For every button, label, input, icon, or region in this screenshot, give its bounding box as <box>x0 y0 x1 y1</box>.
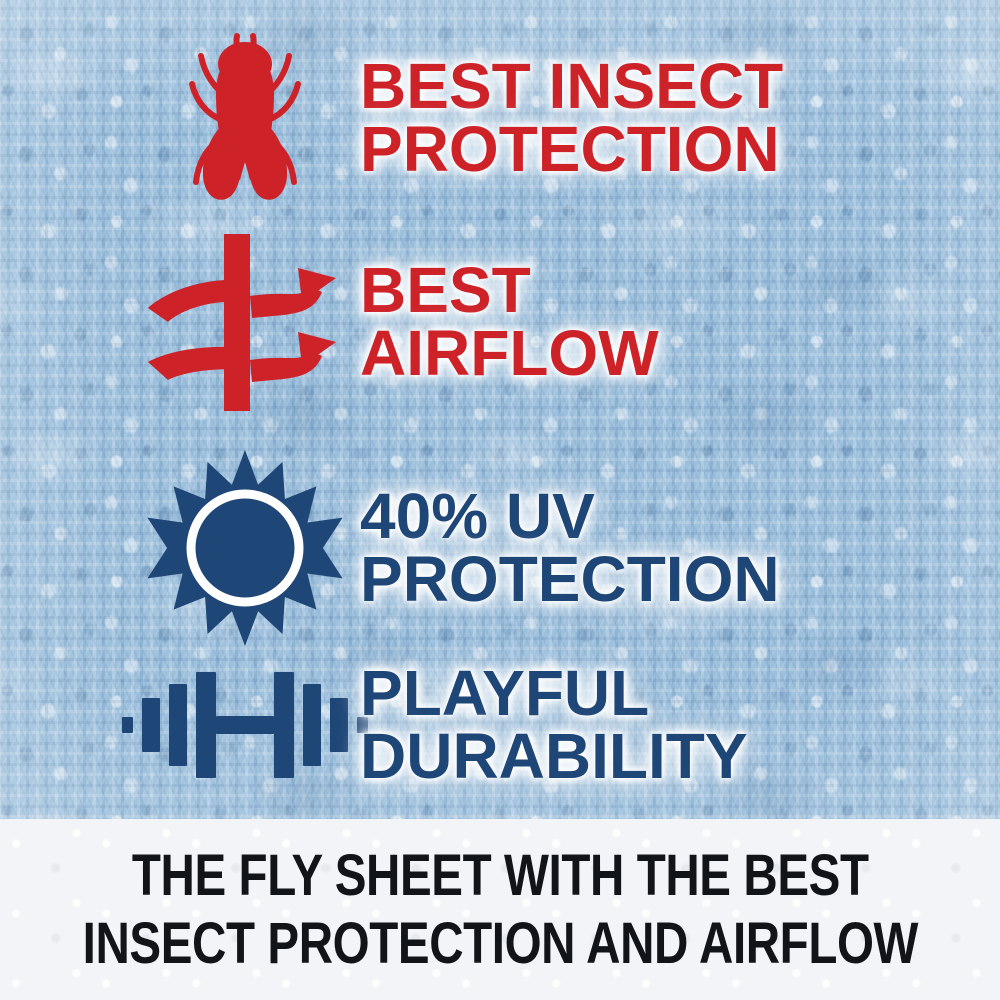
caption-line-2: INSECT PROTECTION AND AIRFLOW <box>82 910 917 978</box>
caption-line-1: THE FLY SHEET WITH THE BEST <box>132 842 869 910</box>
feature-label-airflow: BEST AIRFLOW <box>360 259 659 384</box>
feature-label-durability: PLAYFUL DURABILITY <box>360 662 748 787</box>
feature-row-uv-protection: 40% UV PROTECTION <box>130 440 990 655</box>
feature-row-insect-protection: BEST INSECT PROTECTION <box>130 28 990 208</box>
sun-icon-cell <box>130 448 360 648</box>
airflow-icon-cell <box>130 230 360 415</box>
airflow-barrier-icon <box>140 230 350 415</box>
fly-icon <box>170 28 320 208</box>
caption-band: THE FLY SHEET WITH THE BEST INSECT PROTE… <box>0 819 1000 1000</box>
dumbbell-icon <box>120 660 370 790</box>
dumbbell-icon-cell <box>130 660 360 790</box>
sun-icon <box>145 448 345 648</box>
feature-row-airflow: BEST AIRFLOW <box>130 222 990 422</box>
feature-label-insect-protection: BEST INSECT PROTECTION <box>360 55 783 180</box>
feature-label-uv-protection: 40% UV PROTECTION <box>360 485 780 610</box>
product-feature-infographic: BEST INSECT PROTECTION BEST AIRFLOW <box>0 0 1000 1000</box>
fly-icon-cell <box>130 28 360 208</box>
feature-row-durability: PLAYFUL DURABILITY <box>130 650 990 800</box>
